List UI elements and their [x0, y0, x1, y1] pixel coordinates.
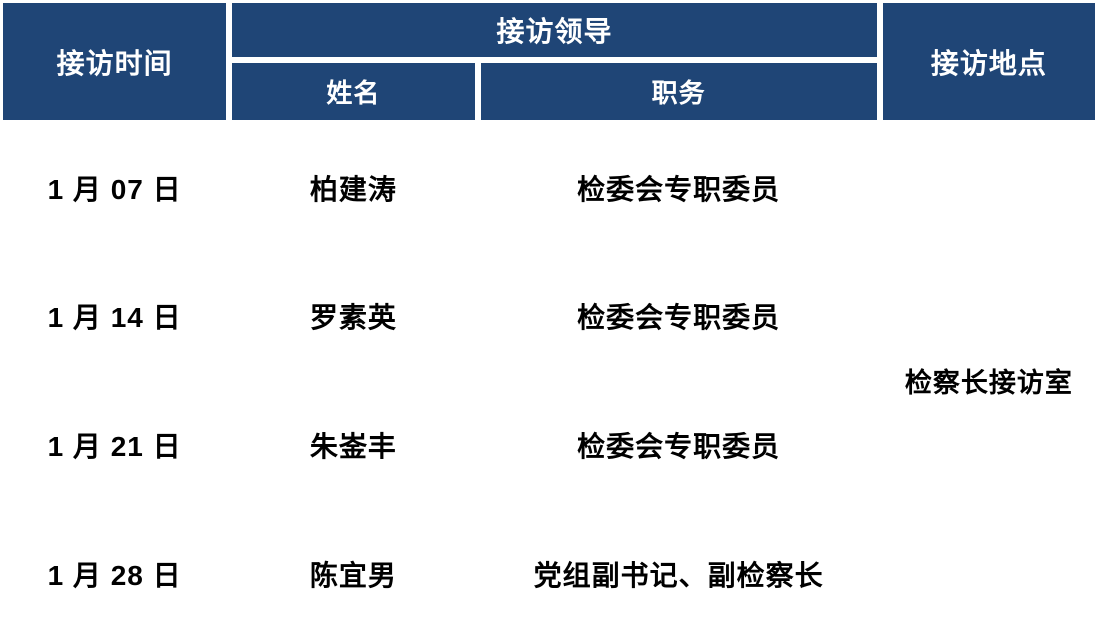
header-visit-time: 接访时间: [0, 0, 229, 123]
visit-schedule-table: 接访时间 接访领导 接访地点 姓名 职务 1 月 07 日 柏建涛 检委会专职委…: [0, 0, 1098, 638]
cell-visit-time: 1 月 28 日: [0, 509, 229, 638]
cell-visit-place: 检察长接访室: [880, 123, 1098, 638]
table-row: 1 月 07 日 柏建涛 检委会专职委员 检察长接访室: [0, 123, 1098, 252]
cell-visit-time: 1 月 14 日: [0, 252, 229, 381]
cell-leader-name: 朱崟丰: [229, 381, 477, 510]
cell-leader-position: 党组副书记、副检察长: [478, 509, 880, 638]
cell-leader-name: 柏建涛: [229, 123, 477, 252]
table-header-row-top: 接访时间 接访领导 接访地点: [0, 0, 1098, 60]
header-visit-leader: 接访领导: [229, 0, 880, 60]
cell-visit-time: 1 月 07 日: [0, 123, 229, 252]
header-leader-name: 姓名: [229, 60, 477, 124]
cell-leader-name: 陈宜男: [229, 509, 477, 638]
cell-leader-name: 罗素英: [229, 252, 477, 381]
cell-leader-position: 检委会专职委员: [478, 252, 880, 381]
header-visit-place: 接访地点: [880, 0, 1098, 123]
cell-leader-position: 检委会专职委员: [478, 381, 880, 510]
cell-leader-position: 检委会专职委员: [478, 123, 880, 252]
cell-visit-time: 1 月 21 日: [0, 381, 229, 510]
header-leader-position: 职务: [478, 60, 880, 124]
